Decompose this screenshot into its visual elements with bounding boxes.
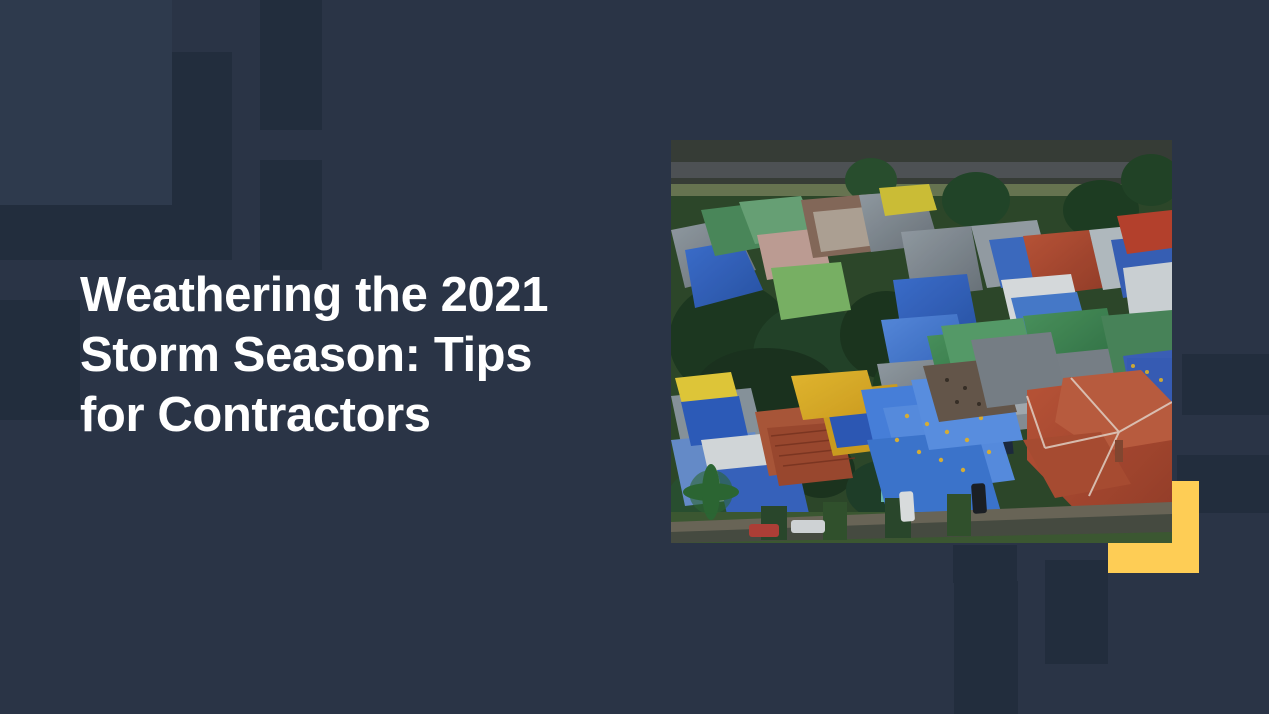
deco-block-11 xyxy=(953,545,1017,583)
page-title-line-3: for Contractors xyxy=(80,385,640,445)
deco-block-9 xyxy=(1045,560,1108,664)
page-title-line-2: Storm Season: Tips xyxy=(80,325,640,385)
page-title: Weathering the 2021 Storm Season: Tips f… xyxy=(80,265,640,445)
deco-block-7 xyxy=(1182,354,1269,415)
deco-block-4 xyxy=(260,160,322,270)
deco-block-3 xyxy=(260,0,322,130)
aerial-photo-tarped-roofs xyxy=(671,140,1172,543)
deco-block-6 xyxy=(0,300,80,420)
deco-block-5 xyxy=(0,205,232,260)
deco-block-1 xyxy=(0,0,172,205)
slide-canvas: Weathering the 2021 Storm Season: Tips f… xyxy=(0,0,1269,714)
page-title-line-1: Weathering the 2021 xyxy=(80,265,640,325)
deco-block-10 xyxy=(954,581,1018,714)
